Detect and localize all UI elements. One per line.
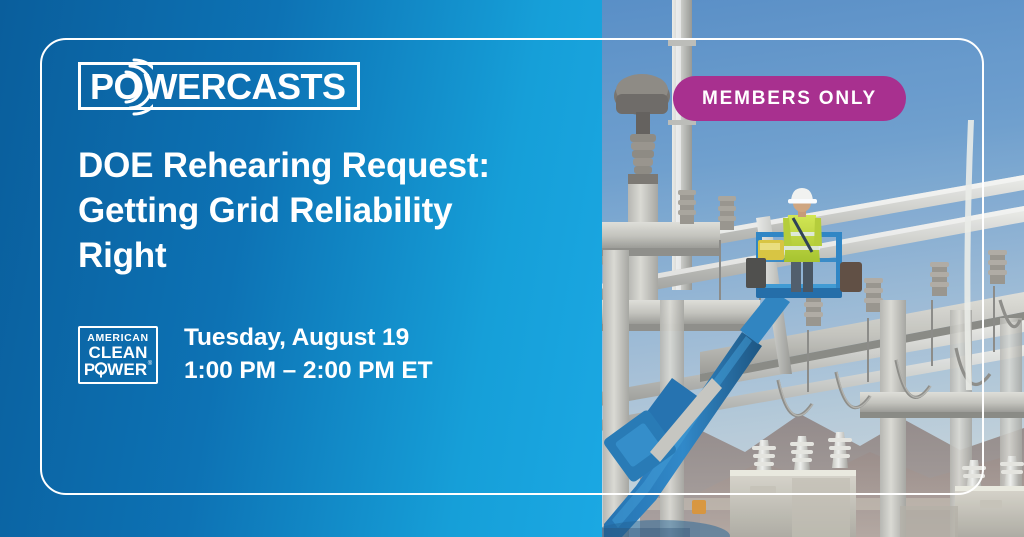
acp-logo-line-clean: CLEAN (88, 344, 147, 361)
acp-power-pre: P (84, 361, 95, 378)
plug-outlet-icon (95, 361, 107, 378)
powercasts-promo-graphic: POWERCASTS DOE Rehearing Request: Gettin… (0, 0, 1024, 537)
powercasts-o-with-waves: O (114, 70, 144, 104)
event-time: 1:00 PM – 2:00 PM ET (184, 355, 433, 388)
event-headline: DOE Rehearing Request: Getting Grid Reli… (78, 144, 528, 278)
logo-and-datetime-row: AMERICAN CLEAN P WER ® Tuesday, August 1… (78, 322, 548, 387)
registered-trademark-mark: ® (148, 361, 152, 367)
members-only-badge: MEMBERS ONLY (673, 76, 906, 121)
members-only-badge-label: MEMBERS ONLY (702, 88, 877, 110)
promo-content: POWERCASTS DOE Rehearing Request: Gettin… (78, 62, 548, 388)
event-datetime: Tuesday, August 19 1:00 PM – 2:00 PM ET (184, 322, 433, 387)
powercasts-wordmark: POWERCASTS (78, 62, 360, 110)
powercasts-wordmark-text: POWERCASTS (90, 70, 346, 104)
event-date: Tuesday, August 19 (184, 322, 433, 355)
acp-power-post: WER (107, 361, 147, 378)
powercasts-letter-o: O (114, 66, 142, 107)
acp-logo-line-power: P WER ® (84, 361, 152, 378)
american-clean-power-logo: AMERICAN CLEAN P WER ® (78, 326, 158, 384)
powercasts-letters-post: WERCASTS (144, 66, 346, 107)
